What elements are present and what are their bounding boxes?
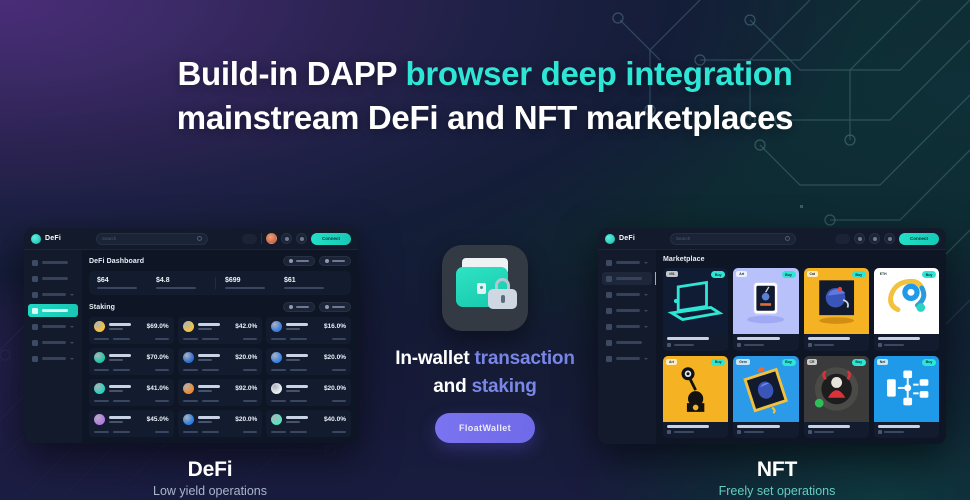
nft-card-title: [878, 337, 920, 340]
nft-sidebar-icon: [606, 260, 612, 266]
defi-content: DeFi Dashboard $64$4.8$699$61 Staking $6…: [82, 250, 358, 443]
nft-card-price: [884, 431, 904, 433]
nft-dashboard-body: Marketplace #91BuyArtBuyCatBuyETHBuyArtB…: [598, 250, 946, 444]
coin-icon: [94, 414, 105, 425]
defi-dashboard-body: DeFi Dashboard $64$4.8$699$61 Staking $6…: [24, 250, 358, 443]
defi-dashboard[interactable]: DeFi Search Connect DeFi Dashboard: [24, 228, 358, 443]
defi-token-card[interactable]: $41.0%: [89, 379, 174, 406]
defi-token-apy: $20.0%: [324, 354, 346, 361]
coin-icon: [94, 321, 105, 332]
lock-icon: [487, 278, 518, 309]
nft-sidebar-item-label: [616, 277, 642, 280]
nft-card-price: [884, 344, 904, 346]
defi-sidebar-item-my-stats[interactable]: [28, 336, 78, 349]
center-feature: In-wallet transaction and staking FloatW…: [355, 245, 615, 443]
nft-sidebar-item-label: [616, 261, 640, 264]
wallet-clasp-icon: [477, 283, 486, 294]
nft-card-title: [808, 337, 850, 340]
nft-buy-badge[interactable]: Buy: [711, 359, 725, 366]
defi-sidebar-item-label: [42, 341, 66, 344]
nft-card-tag: Art: [736, 271, 747, 277]
defi-token-name: [198, 354, 232, 361]
defi-stat: $61: [284, 277, 343, 289]
defi-brand-label: DeFi: [45, 235, 61, 242]
defi-token-name: [198, 416, 232, 423]
center-caption-plain-2: and: [433, 376, 471, 397]
center-caption-accent-1: transaction: [475, 348, 575, 369]
defi-token-card[interactable]: $40.0%: [266, 410, 351, 437]
nft-card-price: [814, 344, 834, 346]
defi-token-name: [286, 385, 320, 392]
nft-sidebar-icon: [606, 356, 612, 362]
defi-token-name: [198, 323, 232, 330]
nft-card-title: [737, 425, 779, 428]
nft-card-coin-icon: [737, 343, 741, 347]
defi-search-input[interactable]: Search: [96, 233, 208, 245]
defi-sidebar-icon: [32, 324, 38, 330]
defi-token-card[interactable]: $20.0%: [178, 348, 263, 375]
defi-sidebar-item-staking[interactable]: [28, 304, 78, 317]
nft-sidebar-icon: [606, 292, 612, 298]
nft-card[interactable]: NetBuy: [874, 356, 939, 439]
nft-search-input[interactable]: Search: [670, 233, 796, 245]
search-icon: [785, 236, 790, 241]
coin-icon: [183, 414, 194, 425]
chevron-down-icon: [70, 326, 74, 328]
chevron-down-icon: [644, 310, 648, 312]
nft-card-price: [744, 431, 764, 433]
defi-stats-strip: $64$4.8$699$61: [89, 271, 351, 295]
defi-token-apy: $92.0%: [235, 385, 257, 392]
nft-section-title: Marketplace: [663, 256, 705, 263]
defi-invest-button[interactable]: [283, 256, 315, 266]
nft-buy-badge[interactable]: Buy: [852, 271, 866, 278]
defi-search-placeholder: Search: [102, 236, 116, 241]
defi-sidebar-icon: [32, 276, 38, 282]
nft-sidebar-item-my-collection[interactable]: [602, 304, 652, 317]
nft-artwork: NetBuy: [874, 356, 939, 422]
nft-caption-subtitle: Freely set operations: [662, 484, 892, 498]
search-icon: [197, 236, 202, 241]
nft-card-coin-icon: [667, 430, 671, 434]
nft-card-grid: #91BuyArtBuyCatBuyETHBuyArtBuyGemBuyCRBu…: [663, 268, 939, 438]
wallet-lock-icon: [442, 245, 528, 331]
nft-section-header: Marketplace: [663, 256, 939, 263]
defi-stat-value: $699: [225, 277, 284, 284]
nft-card-tag: #91: [666, 271, 678, 277]
defi-sidebar-icon: [32, 356, 38, 362]
defi-stat-value: $61: [284, 277, 343, 284]
chevron-down-icon: [644, 326, 648, 328]
defi-header-actions: Connect: [242, 233, 351, 245]
defi-token-card[interactable]: $42.0%: [178, 317, 263, 344]
defi-token-name: [286, 354, 320, 361]
defi-token-name: [109, 354, 143, 361]
nft-buy-badge[interactable]: Buy: [782, 271, 796, 278]
nft-card-coin-icon: [808, 430, 812, 434]
nft-card-coin-icon: [878, 343, 882, 347]
defi-token-name: [198, 385, 232, 392]
defi-token-card[interactable]: $70.0%: [89, 348, 174, 375]
floatwallet-cta-button[interactable]: FloatWallet: [435, 413, 535, 443]
nft-brand[interactable]: DeFi: [605, 234, 663, 244]
nft-card[interactable]: GemBuy: [733, 356, 798, 439]
nft-card-meta: [804, 334, 869, 351]
defi-sidebar-icon: [32, 260, 38, 266]
nft-sidebar-item-label: [616, 341, 642, 344]
defi-section-buttons: [283, 256, 351, 266]
nft-card-title: [737, 337, 779, 340]
nft-caption-title: NFT: [662, 458, 892, 482]
nft-buy-badge[interactable]: Buy: [922, 271, 936, 278]
nft-card-tag: CR: [807, 359, 818, 365]
defi-token-apy: $20.0%: [235, 354, 257, 361]
nft-artwork: ArtBuy: [663, 356, 728, 422]
center-caption-accent-2: staking: [472, 376, 537, 397]
chevron-down-icon: [70, 358, 74, 360]
poster-stage: Build-in DAPP browser deep integration m…: [0, 0, 970, 500]
defi-token-card[interactable]: $20.0%: [266, 379, 351, 406]
nft-card-tag: Gem: [736, 359, 750, 365]
coin-icon: [94, 352, 105, 363]
chevron-down-icon: [70, 294, 74, 296]
defi-logo-icon: [31, 234, 41, 244]
headline-line2: mainstream DeFi and NFT marketplaces: [0, 96, 970, 140]
nft-card[interactable]: ArtBuy: [733, 268, 798, 351]
nft-card-price: [744, 344, 764, 346]
nft-card-price: [674, 431, 694, 433]
defi-sidebar-item-label: [42, 357, 66, 360]
defi-stat-value: $4.8: [156, 277, 215, 284]
nft-card-meta: [874, 422, 939, 439]
nft-card-coin-icon: [667, 343, 671, 347]
defi-sidebar-item-discover[interactable]: [28, 272, 78, 285]
chevron-down-icon: [644, 294, 648, 296]
bell-icon[interactable]: [296, 233, 307, 244]
defi-stat-label: [284, 287, 324, 290]
page-headline: Build-in DAPP browser deep integration m…: [0, 52, 970, 140]
nft-card-coin-icon: [808, 343, 812, 347]
defi-token-name: [109, 416, 143, 423]
nft-card-meta: [804, 422, 869, 439]
nft-sidebar-item-label: [616, 293, 640, 296]
defi-token-apy: $16.0%: [324, 323, 346, 330]
nft-card-meta: [733, 334, 798, 351]
nft-card[interactable]: CRBuy: [804, 356, 869, 439]
defi-token-apy: $20.0%: [235, 416, 257, 423]
defi-staking-title: Staking: [89, 304, 115, 311]
defi-token-name: [109, 385, 143, 392]
nft-card-meta: [874, 334, 939, 351]
nft-sidebar-item-discover[interactable]: [602, 256, 652, 269]
nft-card-title: [667, 337, 709, 340]
defi-token-apy: $42.0%: [235, 323, 257, 330]
defi-sidebar-icon: [32, 340, 38, 346]
defi-dashboard-header: DeFi Search Connect: [24, 228, 358, 250]
defi-token-apy: $40.0%: [324, 416, 346, 423]
coin-icon: [183, 383, 194, 394]
nft-brand-label: DeFi: [619, 235, 635, 242]
nft-buy-badge[interactable]: Buy: [852, 359, 866, 366]
defi-sidebar-icon: [32, 308, 38, 314]
nft-card-tag: ETH: [877, 271, 890, 277]
defi-staking-buttons: [283, 302, 351, 312]
nft-sidebar-icon: [606, 276, 612, 282]
nft-artwork: ETHBuy: [874, 268, 939, 334]
coin-icon: [271, 414, 282, 425]
nft-connect-wallet-button[interactable]: Connect: [899, 233, 939, 245]
nft-buy-badge[interactable]: Buy: [782, 359, 796, 366]
defi-caption-subtitle: Low yield operations: [95, 484, 325, 498]
defi-brand[interactable]: DeFi: [31, 234, 89, 244]
nft-network-selector[interactable]: [835, 234, 850, 244]
defi-sidebar-item-label: [42, 261, 68, 264]
nft-card-coin-icon: [737, 430, 741, 434]
nft-card[interactable]: ArtBuy: [663, 356, 728, 439]
coin-icon: [183, 352, 194, 363]
gear-icon[interactable]: [869, 233, 880, 244]
defi-sidebar-item-marketplace[interactable]: [28, 320, 78, 333]
defi-stat-value: $64: [97, 277, 156, 284]
defi-sidebar-item-label: [42, 309, 68, 312]
defi-sidebar-item-overview[interactable]: [28, 256, 78, 269]
defi-token-name: [286, 323, 320, 330]
center-caption: In-wallet transaction and staking: [355, 345, 615, 400]
nft-caption: NFT Freely set operations: [662, 458, 892, 498]
defi-section-header: DeFi Dashboard: [89, 256, 351, 266]
nft-card-tag: Art: [666, 359, 677, 365]
nft-sidebar-icon: [606, 340, 612, 346]
grid-icon[interactable]: [854, 233, 865, 244]
chevron-down-icon: [70, 342, 74, 344]
nft-card-meta: [663, 334, 728, 351]
nft-artwork: CRBuy: [804, 356, 869, 422]
nft-logo-icon: [605, 234, 615, 244]
coin-icon: [271, 321, 282, 332]
nft-content: Marketplace #91BuyArtBuyCatBuyETHBuyArtB…: [656, 250, 946, 444]
nft-sidebar-icon: [606, 308, 612, 314]
nft-card-price: [814, 431, 834, 433]
defi-token-card[interactable]: $92.0%: [178, 379, 263, 406]
nft-card-title: [878, 425, 920, 428]
nft-card-tag: Cat: [807, 271, 818, 277]
center-caption-plain-1: In-wallet: [395, 348, 474, 369]
nft-card-meta: [663, 422, 728, 439]
nft-sidebar: [598, 250, 656, 444]
nft-artwork: CatBuy: [804, 268, 869, 334]
nft-card[interactable]: #91Buy: [663, 268, 728, 351]
nft-card-tag: Net: [877, 359, 888, 365]
nft-sidebar-item-marketplace[interactable]: [602, 272, 652, 285]
gear-icon[interactable]: [281, 233, 292, 244]
defi-stat-label: [97, 287, 137, 290]
nft-artwork: #91Buy: [663, 268, 728, 334]
header-divider: [261, 233, 262, 244]
nft-sidebar-item-label: [616, 325, 640, 328]
coin-icon: [183, 321, 194, 332]
defi-caption: DeFi Low yield operations: [95, 458, 325, 498]
nft-card[interactable]: CatBuy: [804, 268, 869, 351]
nft-card-title: [808, 425, 850, 428]
avatar[interactable]: [266, 233, 277, 244]
defi-wallet-button[interactable]: [319, 256, 351, 266]
network-selector[interactable]: [242, 234, 257, 244]
nft-buy-badge[interactable]: Buy: [922, 359, 936, 366]
defi-stake-button[interactable]: [283, 302, 315, 312]
nft-sidebar-item-transfer[interactable]: [602, 352, 652, 365]
headline-line1-accent: browser deep integration: [406, 55, 793, 92]
nft-sidebar-item-label: [616, 357, 640, 360]
nft-sidebar-item-activity[interactable]: [602, 288, 652, 301]
defi-stat: $4.8: [156, 277, 215, 289]
nft-sidebar-item-label: [616, 309, 640, 312]
defi-sidebar-icon: [32, 292, 38, 298]
defi-token-apy: $70.0%: [147, 354, 169, 361]
nft-card-title: [667, 425, 709, 428]
nft-header-actions: Connect: [835, 233, 939, 245]
nft-artwork: GemBuy: [733, 356, 798, 422]
defi-section-title: DeFi Dashboard: [89, 258, 144, 265]
coin-icon: [271, 352, 282, 363]
defi-sidebar-item-transfer[interactable]: [28, 352, 78, 365]
defi-sidebar-item-label: [42, 325, 66, 328]
defi-token-card[interactable]: $45.0%: [89, 410, 174, 437]
defi-caption-title: DeFi: [95, 458, 325, 482]
defi-token-card[interactable]: $69.0%: [89, 317, 174, 344]
defi-token-apy: $20.0%: [324, 385, 346, 392]
nft-card-meta: [733, 422, 798, 439]
nft-card-coin-icon: [878, 430, 882, 434]
defi-token-card[interactable]: $20.0%: [178, 410, 263, 437]
nft-dashboard[interactable]: DeFi Search Connect Marketplace #91BuyAr…: [598, 228, 946, 444]
defi-sidebar: [24, 250, 82, 443]
headline-line1-plain: Build-in DAPP: [177, 55, 405, 92]
defi-stat-label: [225, 287, 265, 290]
nft-sidebar-item-token-detail[interactable]: [602, 320, 652, 333]
defi-staking-header: Staking: [89, 302, 351, 312]
nft-card[interactable]: ETHBuy: [874, 268, 939, 351]
defi-reward-button[interactable]: [319, 302, 351, 312]
coin-icon: [271, 383, 282, 394]
nft-dashboard-header: DeFi Search Connect: [598, 228, 946, 250]
defi-stat-label: [156, 287, 196, 290]
nft-search-placeholder: Search: [676, 236, 690, 241]
defi-token-apy: $41.0%: [147, 385, 169, 392]
defi-token-card[interactable]: $16.0%: [266, 317, 351, 344]
defi-stat: $699: [215, 277, 284, 289]
defi-token-apy: $69.0%: [147, 323, 169, 330]
coin-icon: [94, 383, 105, 394]
chevron-down-icon: [644, 262, 648, 264]
defi-token-name: [109, 323, 143, 330]
defi-sidebar-item-label: [42, 293, 66, 296]
defi-token-name: [286, 416, 320, 423]
chevron-down-icon: [644, 358, 648, 360]
defi-token-card[interactable]: $20.0%: [266, 348, 351, 375]
defi-token-apy: $45.0%: [147, 416, 169, 423]
nft-artwork: ArtBuy: [733, 268, 798, 334]
nft-sidebar-item-my-assets[interactable]: [602, 336, 652, 349]
connect-wallet-button[interactable]: Connect: [311, 233, 351, 245]
defi-sidebar-item-label: [42, 277, 68, 280]
defi-token-grid: $69.0%$42.0%$16.0%$70.0%$20.0%$20.0%$41.…: [89, 317, 351, 437]
nft-sidebar-icon: [606, 324, 612, 330]
nft-buy-badge[interactable]: Buy: [711, 271, 725, 278]
defi-stat: $64: [97, 277, 156, 289]
bell-icon[interactable]: [884, 233, 895, 244]
defi-sidebar-item-swap[interactable]: [28, 288, 78, 301]
nft-card-price: [674, 344, 694, 346]
